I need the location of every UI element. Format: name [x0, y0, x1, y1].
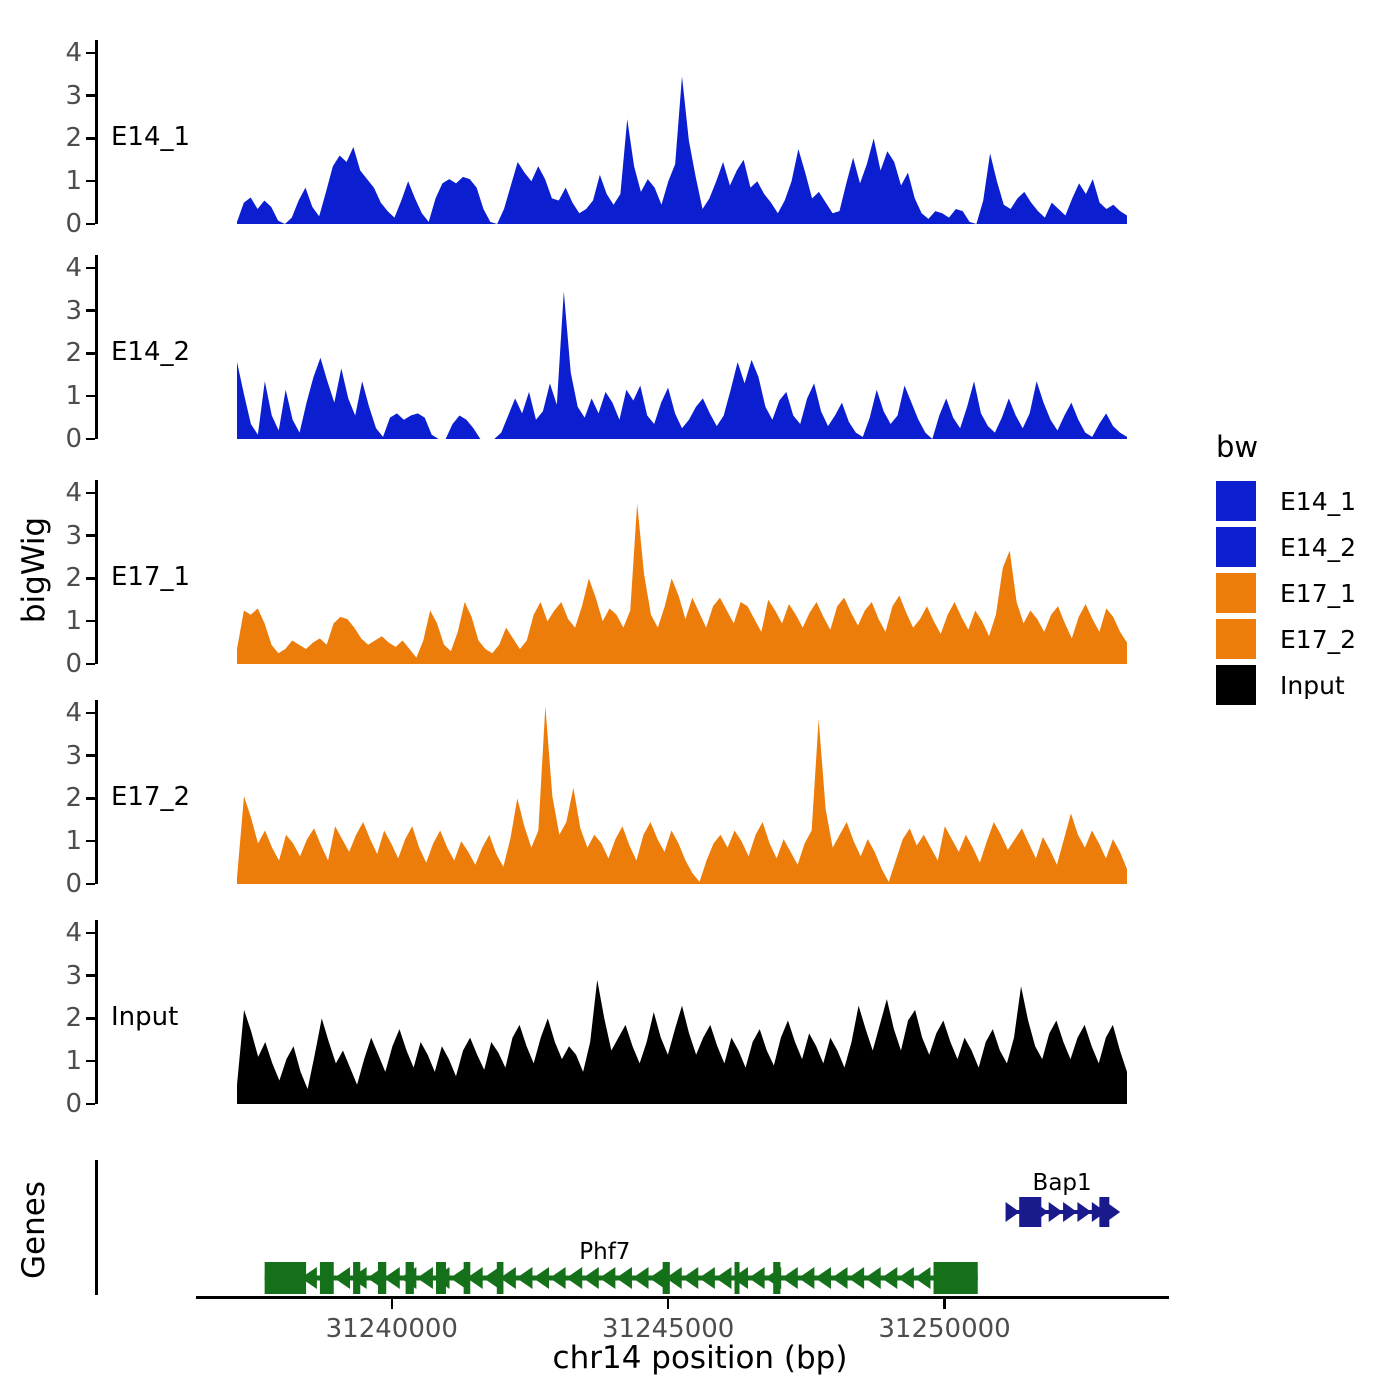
- y-tick-label: 2: [65, 338, 82, 368]
- y-axis-title-bigwig: bigWig: [14, 455, 54, 685]
- gene-label-bap1: Bap1: [1033, 1170, 1092, 1196]
- y-tick: [86, 932, 95, 935]
- y-tick: [86, 534, 95, 537]
- y-tick-label: 0: [65, 869, 82, 899]
- legend-swatch-icon: [1216, 665, 1256, 705]
- y-tick: [86, 663, 95, 666]
- y-tick-label: 1: [65, 166, 82, 196]
- y-axis-title-text: bigWig: [16, 517, 52, 623]
- y-tick-label: 3: [65, 741, 82, 771]
- legend-item-e17_1[interactable]: E17_1: [1216, 572, 1356, 614]
- genes-drawing: [98, 1160, 1130, 1295]
- y-tick-label: 2: [65, 783, 82, 813]
- y-axis-line: [95, 700, 98, 884]
- y-tick: [86, 352, 95, 355]
- y-tick: [86, 840, 95, 843]
- y-tick-label: 0: [65, 649, 82, 679]
- y-tick-label: 3: [65, 296, 82, 326]
- legend-label: E17_2: [1280, 625, 1356, 654]
- y-tick-label: 2: [65, 563, 82, 593]
- y-tick: [86, 52, 95, 55]
- y-tick: [86, 438, 95, 441]
- y-tick-label: 0: [65, 1089, 82, 1119]
- track-panel-e17_1: 01234E17_1: [95, 480, 1127, 664]
- y-tick: [86, 883, 95, 886]
- y-tick-label: 1: [65, 826, 82, 856]
- track-label-e17_1: E17_1: [111, 562, 190, 592]
- y-tick: [86, 754, 95, 757]
- legend-title: bw: [1216, 430, 1356, 464]
- y-tick: [86, 137, 95, 140]
- y-tick-label: 4: [65, 698, 82, 728]
- coverage-area-e17_1: [237, 480, 1127, 664]
- coverage-area-input: [237, 920, 1127, 1104]
- x-axis-line: [196, 1296, 1169, 1299]
- genes-title-text: Genes: [16, 1181, 52, 1279]
- y-tick: [86, 1060, 95, 1063]
- x-tick: [943, 1299, 946, 1309]
- legend-label: Input: [1280, 671, 1345, 700]
- legend-label: E17_1: [1280, 579, 1356, 608]
- y-tick-label: 2: [65, 1003, 82, 1033]
- legend-label: E14_1: [1280, 487, 1356, 516]
- y-tick: [86, 395, 95, 398]
- legend-swatch-icon: [1216, 619, 1256, 659]
- track-label-input: Input: [111, 1002, 178, 1032]
- y-tick: [86, 180, 95, 183]
- y-tick-label: 4: [65, 253, 82, 283]
- x-tick: [391, 1299, 394, 1309]
- y-tick-label: 1: [65, 606, 82, 636]
- track-panel-e14_2: 01234E14_2: [95, 255, 1127, 439]
- track-panel-e14_1: 01234E14_1: [95, 40, 1127, 224]
- legend-swatch-icon: [1216, 481, 1256, 521]
- legend: bw E14_1E14_2E17_1E17_2Input: [1216, 430, 1356, 710]
- y-tick-label: 3: [65, 961, 82, 991]
- y-tick-label: 0: [65, 424, 82, 454]
- track-panel-input: 01234Input: [95, 920, 1127, 1104]
- y-tick: [86, 620, 95, 623]
- legend-item-e14_2[interactable]: E14_2: [1216, 526, 1356, 568]
- track-panel-e17_2: 01234E17_2: [95, 700, 1127, 884]
- coverage-area-e14_2: [237, 255, 1127, 439]
- y-tick-label: 2: [65, 123, 82, 153]
- legend-item-e14_1[interactable]: E14_1: [1216, 480, 1356, 522]
- x-axis-title: chr14 position (bp): [0, 1340, 1400, 1376]
- y-tick-label: 3: [65, 521, 82, 551]
- y-tick: [86, 797, 95, 800]
- y-axis-line: [95, 40, 98, 224]
- y-tick-label: 0: [65, 209, 82, 239]
- coverage-area-e14_1: [237, 40, 1127, 224]
- legend-items: E14_1E14_2E17_1E17_2Input: [1216, 480, 1356, 706]
- y-tick: [86, 94, 95, 97]
- legend-label: E14_2: [1280, 533, 1356, 562]
- genes-track-panel: Bap1 Phf7: [95, 1160, 1130, 1295]
- y-tick: [86, 267, 95, 270]
- y-tick: [86, 492, 95, 495]
- y-tick-label: 1: [65, 381, 82, 411]
- legend-swatch-icon: [1216, 527, 1256, 567]
- x-tick: [667, 1299, 670, 1309]
- y-axis-title-genes: Genes: [14, 1155, 54, 1305]
- track-label-e17_2: E17_2: [111, 782, 190, 812]
- y-tick-label: 4: [65, 918, 82, 948]
- y-axis-line: [95, 255, 98, 439]
- y-tick: [86, 577, 95, 580]
- y-axis-line: [95, 920, 98, 1104]
- y-tick-label: 3: [65, 81, 82, 111]
- y-tick-label: 4: [65, 38, 82, 68]
- legend-item-e17_2[interactable]: E17_2: [1216, 618, 1356, 660]
- genome-browser-figure: bigWig Genes 01234E14_101234E14_201234E1…: [0, 0, 1400, 1400]
- y-tick: [86, 712, 95, 715]
- y-tick: [86, 974, 95, 977]
- y-tick-label: 4: [65, 478, 82, 508]
- gene-label-phf7: Phf7: [579, 1239, 630, 1265]
- y-axis-line: [95, 480, 98, 664]
- legend-swatch-icon: [1216, 573, 1256, 613]
- y-tick: [86, 223, 95, 226]
- y-tick-label: 1: [65, 1046, 82, 1076]
- y-tick: [86, 1103, 95, 1106]
- y-tick: [86, 309, 95, 312]
- coverage-area-e17_2: [237, 700, 1127, 884]
- track-label-e14_2: E14_2: [111, 337, 190, 367]
- y-tick: [86, 1017, 95, 1020]
- track-label-e14_1: E14_1: [111, 122, 190, 152]
- legend-item-input[interactable]: Input: [1216, 664, 1356, 706]
